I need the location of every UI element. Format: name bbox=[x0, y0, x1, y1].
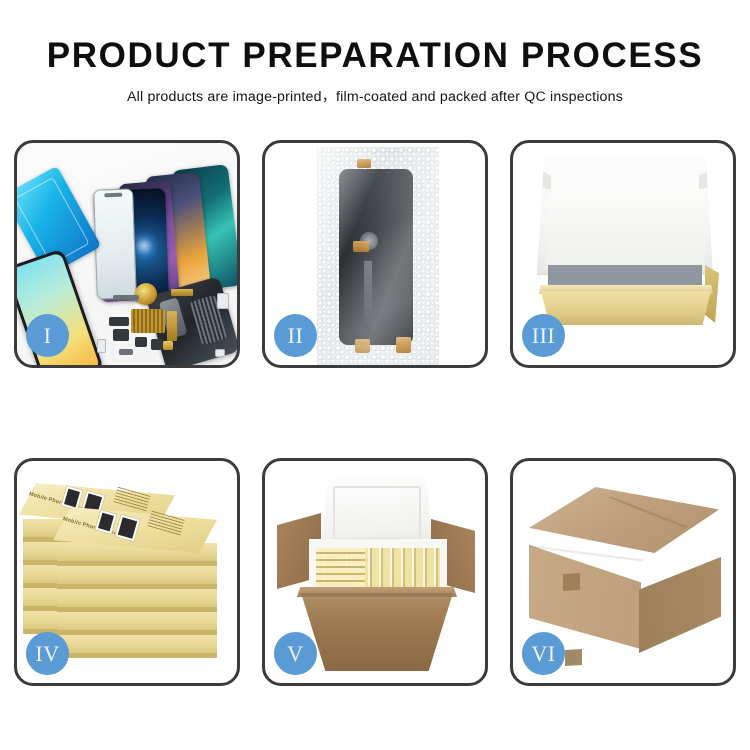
carton-body bbox=[301, 593, 453, 671]
spare-part bbox=[215, 349, 225, 357]
product-preparation-infographic: PRODUCT PREPARATION PROCESS All products… bbox=[0, 0, 750, 750]
carton-side-face bbox=[639, 557, 721, 653]
box-front-panel bbox=[541, 291, 711, 325]
page-subtitle: All products are image-printed，film-coat… bbox=[0, 86, 750, 106]
step-number-badge: V bbox=[274, 632, 317, 675]
step-number-badge: III bbox=[522, 314, 565, 357]
box-layer bbox=[57, 589, 217, 612]
step-number-badge: IV bbox=[26, 632, 69, 675]
carton-tape-patch bbox=[563, 573, 580, 591]
flex-cable-part bbox=[171, 289, 193, 296]
process-step-grid: I II bbox=[14, 140, 736, 686]
box-layer bbox=[57, 612, 217, 635]
step-number-badge: VI bbox=[522, 632, 565, 675]
spare-part bbox=[163, 341, 173, 350]
flex-cable-part bbox=[167, 311, 177, 341]
bubble-wrap-bag bbox=[317, 147, 439, 365]
box-layer bbox=[57, 566, 217, 589]
spare-part bbox=[109, 317, 129, 326]
spare-part bbox=[113, 329, 129, 341]
spare-part bbox=[113, 295, 139, 300]
step-number-badge: II bbox=[274, 314, 317, 357]
spare-part bbox=[97, 339, 106, 353]
speaker-coil-part bbox=[135, 283, 157, 305]
page-title: PRODUCT PREPARATION PROCESS bbox=[0, 38, 750, 75]
spare-part bbox=[119, 349, 133, 355]
step-number-badge: I bbox=[26, 314, 69, 357]
process-step-6: VI bbox=[510, 458, 736, 686]
process-step-3: III bbox=[510, 140, 736, 368]
spare-part bbox=[135, 337, 147, 347]
plastic-sheen bbox=[317, 147, 439, 365]
chip-part bbox=[131, 309, 165, 333]
carton-tape-patch bbox=[565, 649, 582, 666]
header: PRODUCT PREPARATION PROCESS All products… bbox=[0, 0, 750, 106]
process-step-5: V bbox=[262, 458, 488, 686]
spare-part bbox=[217, 293, 229, 309]
carton-top-face bbox=[529, 487, 719, 553]
process-step-2: II bbox=[262, 140, 488, 368]
process-step-1: I bbox=[14, 140, 240, 368]
box-layer bbox=[57, 635, 217, 658]
foam-sheet bbox=[547, 189, 705, 265]
process-step-4: Mobile Phone Spare Parts Mobile Phone Sp… bbox=[14, 458, 240, 686]
